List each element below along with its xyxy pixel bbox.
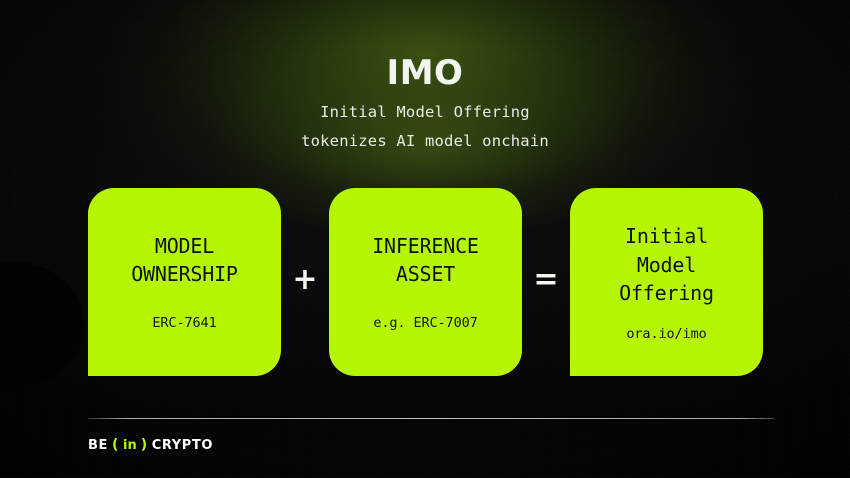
logo-bracket-open: ( [112, 437, 119, 453]
logo-text-in: in [123, 438, 137, 453]
logo-bracket-close: ) [141, 437, 148, 453]
card-standard-label: ERC-7641 [152, 315, 216, 331]
plus-operator-icon: + [281, 188, 329, 376]
equation-row: MODEL OWNERSHIP ERC-7641 + INFERENCE ASS… [88, 188, 763, 376]
equals-operator-icon: = [522, 188, 570, 376]
card-title: Initial Model Offering [619, 222, 714, 307]
card-inference-asset: INFERENCE ASSET e.g. ERC-7007 [329, 188, 522, 376]
logo-text-be: BE [88, 438, 108, 453]
card-url-label: ora.io/imo [626, 326, 706, 342]
slide-canvas: IMO Initial Model Offering tokenizes AI … [0, 0, 850, 478]
subtitle-line-1: Initial Model Offering [0, 105, 850, 121]
card-standard-label: e.g. ERC-7007 [373, 315, 477, 331]
heading-block: IMO Initial Model Offering tokenizes AI … [0, 56, 850, 150]
logo-text-crypto: CRYPTO [152, 438, 213, 453]
background-dark-blob [0, 262, 84, 388]
footer-divider [88, 418, 774, 419]
page-title: IMO [0, 56, 850, 92]
subtitle-line-2: tokenizes AI model onchain [0, 134, 850, 150]
card-title: INFERENCE ASSET [372, 233, 479, 288]
card-initial-model-offering: Initial Model Offering ora.io/imo [570, 188, 763, 376]
card-title: MODEL OWNERSHIP [131, 233, 238, 288]
beincrypto-logo: BE ( in ) CRYPTO [88, 437, 213, 453]
card-model-ownership: MODEL OWNERSHIP ERC-7641 [88, 188, 281, 376]
